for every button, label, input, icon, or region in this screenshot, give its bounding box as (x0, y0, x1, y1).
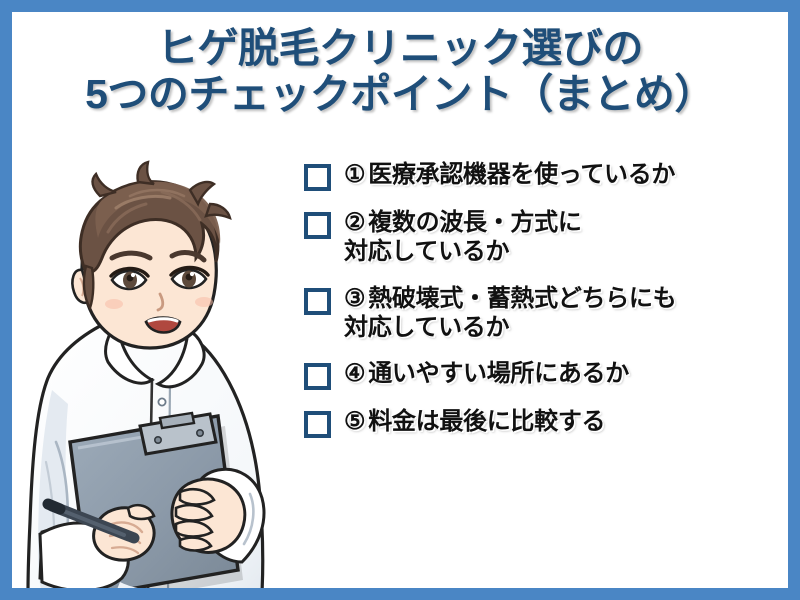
list-item[interactable]: ②複数の波長・方式に 対応しているか (304, 208, 784, 267)
checkbox-icon[interactable] (304, 164, 331, 191)
checkbox-icon[interactable] (304, 363, 331, 390)
checkbox-icon[interactable] (304, 212, 331, 239)
list-item[interactable]: ①医療承認機器を使っているか (304, 160, 784, 191)
list-item-label: 医療承認機器を使っているか (368, 161, 675, 188)
list-item-number: ① (344, 161, 365, 188)
list-item-number: ④ (344, 360, 365, 387)
infographic-card: ヒゲ脱毛クリニック選びの 5つのチェックポイント（まとめ） (0, 0, 800, 600)
page-title: ヒゲ脱毛クリニック選びの 5つのチェックポイント（まとめ） (12, 26, 788, 118)
list-item-label-continued: 対応しているか (344, 237, 784, 266)
list-item-text: ②複数の波長・方式に 対応しているか (344, 208, 784, 267)
list-item-text: ③熱破壊式・蓄熱式どちらにも 対応しているか (344, 284, 784, 343)
title-line-1: ヒゲ脱毛クリニック選びの (12, 26, 788, 72)
list-item-text: ④通いやすい場所にあるか (344, 359, 784, 388)
list-item-number: ⑤ (344, 408, 365, 435)
list-item-label: 複数の波長・方式に (368, 209, 581, 236)
illustration-young-man-with-clipboard (12, 142, 312, 588)
checkbox-icon[interactable] (304, 411, 331, 438)
list-item[interactable]: ④通いやすい場所にあるか (304, 359, 784, 390)
list-item-label: 熱破壊式・蓄熱式どちらにも (368, 285, 676, 312)
list-item[interactable]: ③熱破壊式・蓄熱式どちらにも 対応しているか (304, 284, 784, 343)
list-item-number: ② (344, 209, 365, 236)
title-line-2: 5つのチェックポイント（まとめ） (12, 72, 788, 118)
list-item-text: ①医療承認機器を使っているか (344, 160, 784, 189)
list-item-label-continued: 対応しているか (344, 313, 784, 342)
list-item-label: 通いやすい場所にあるか (368, 360, 629, 387)
infographic-canvas: ヒゲ脱毛クリニック選びの 5つのチェックポイント（まとめ） (12, 12, 788, 588)
list-item-label: 料金は最後に比較する (368, 408, 605, 435)
head (72, 162, 230, 348)
list-item-text: ⑤料金は最後に比較する (344, 407, 784, 436)
checklist: ①医療承認機器を使っているか ②複数の波長・方式に 対応しているか ③熱破壊式・… (304, 160, 784, 455)
list-item-number: ③ (344, 285, 365, 312)
checkbox-icon[interactable] (304, 288, 331, 315)
list-item[interactable]: ⑤料金は最後に比較する (304, 407, 784, 438)
